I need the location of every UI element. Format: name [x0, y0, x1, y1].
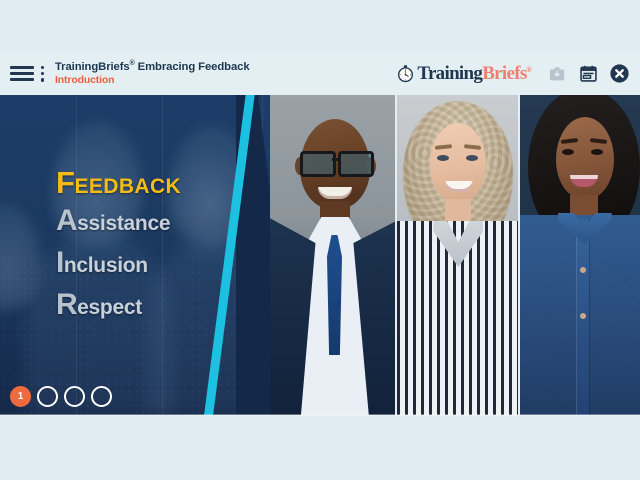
more-options-icon[interactable]	[40, 66, 45, 82]
hamburger-line	[10, 66, 34, 69]
acronym-line-respect: R espect	[56, 290, 181, 320]
acronym-line-feedback: F EEDBACK	[56, 167, 181, 198]
acronym-word: EEDBACK	[74, 176, 181, 197]
acronym-word: nclusion	[64, 255, 148, 276]
acronym-line-inclusion: I nclusion	[56, 248, 181, 278]
eye	[591, 149, 603, 155]
brand-word-training: Training	[417, 63, 482, 85]
course-title-block: TrainingBriefs® Embracing Feedback Intro…	[55, 60, 250, 86]
acronym-word: espect	[77, 297, 142, 318]
lens	[300, 151, 336, 177]
top-bar-actions: TrainingBriefs®	[396, 63, 630, 85]
close-button[interactable]	[608, 63, 630, 85]
notes-button[interactable]	[577, 63, 599, 85]
kebab-dot	[41, 78, 44, 81]
necktie	[327, 235, 342, 355]
bridge	[332, 158, 340, 161]
shirt-button	[580, 267, 586, 273]
pagination-dot-2[interactable]	[37, 386, 58, 407]
acronym-word: ssistance	[77, 213, 170, 234]
photo-woman-curly-blonde	[395, 95, 517, 415]
photo-woman-denim-shirt	[518, 95, 640, 415]
photo-man-suit-glasses	[270, 95, 395, 415]
stopwatch-icon	[396, 64, 415, 83]
slide-pagination: 1	[10, 386, 112, 407]
acronym-capital: F	[56, 167, 74, 198]
acronym-line-assistance: A ssistance	[56, 206, 181, 236]
course-title-main: TrainingBriefs	[55, 61, 130, 73]
course-section-label: Introduction	[55, 75, 250, 87]
shirt-button	[580, 313, 586, 319]
photo-strip	[270, 95, 640, 415]
fair-acronym: F EEDBACK A ssistance I nclusion R espec…	[56, 167, 181, 332]
acronym-capital: R	[56, 290, 77, 320]
hamburger-line	[10, 78, 34, 81]
hamburger-line	[10, 72, 34, 75]
pagination-dot-3[interactable]	[64, 386, 85, 407]
page-title: TrainingBriefs® Embracing Feedback	[55, 60, 250, 73]
pagination-dot-1[interactable]: 1	[10, 386, 31, 407]
brand-word-briefs: Briefs	[482, 63, 526, 85]
kebab-dot	[41, 66, 44, 69]
course-title-rest: Embracing Feedback	[135, 61, 250, 73]
pagination-dot-4[interactable]	[91, 386, 112, 407]
course-player-window: TrainingBriefs® Embracing Feedback Intro…	[0, 0, 640, 480]
kebab-dot	[41, 72, 44, 75]
eyeglasses	[298, 151, 372, 171]
hamburger-menu-icon[interactable]	[10, 66, 34, 81]
trainingbriefs-logo: TrainingBriefs®	[396, 63, 537, 85]
slide-bottom-edge	[0, 414, 640, 416]
acronym-capital: A	[56, 206, 77, 236]
acronym-capital: I	[56, 248, 64, 278]
brand-wordmark: TrainingBriefs®	[417, 63, 531, 85]
calendar-notes-icon	[579, 64, 598, 83]
top-bar: TrainingBriefs® Embracing Feedback Intro…	[0, 52, 640, 95]
download-resources-button[interactable]	[546, 63, 568, 85]
lens	[338, 151, 374, 177]
download-box-icon	[548, 65, 566, 83]
brand-registered-mark: ®	[527, 67, 531, 74]
eye	[562, 149, 574, 155]
close-circle-icon	[609, 63, 630, 84]
slide-canvas[interactable]: F EEDBACK A ssistance I nclusion R espec…	[0, 95, 640, 415]
menu-controls	[10, 66, 45, 82]
